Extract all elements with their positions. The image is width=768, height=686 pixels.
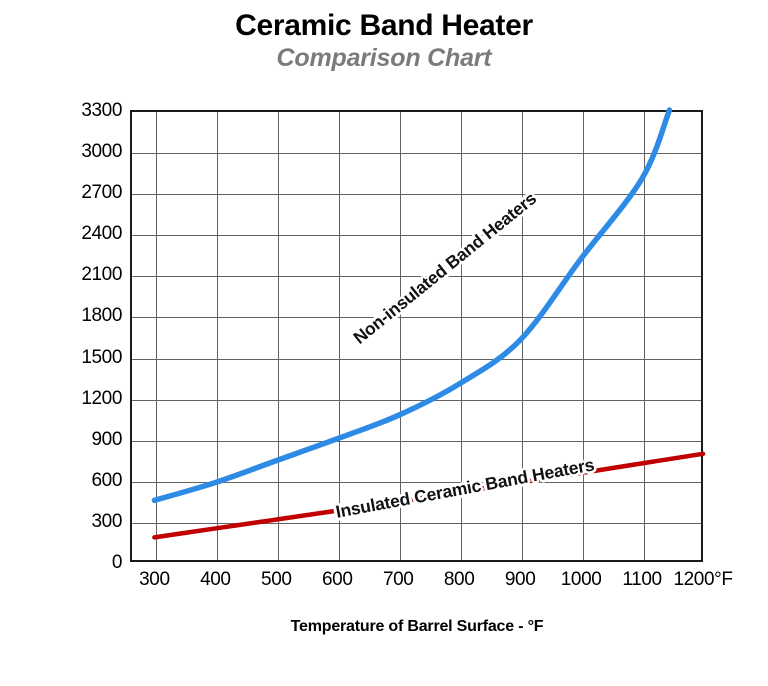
gridline-vertical xyxy=(156,112,157,560)
gridline-vertical xyxy=(217,112,218,560)
y-tick-label: 900 xyxy=(2,430,122,449)
x-tick-label: 1200°F xyxy=(648,570,758,590)
x-axis-label: Temperature of Barrel Surface - °F xyxy=(130,618,704,636)
gridline-vertical xyxy=(644,112,645,560)
gridline-vertical xyxy=(278,112,279,560)
gridline-vertical xyxy=(583,112,584,560)
y-tick-label: 600 xyxy=(2,471,122,490)
y-tick-label: 1200 xyxy=(2,389,122,408)
y-tick-label: 2400 xyxy=(2,224,122,243)
gridline-vertical xyxy=(522,112,523,560)
gridline-vertical xyxy=(339,112,340,560)
y-tick-label: 3300 xyxy=(2,101,122,120)
y-tick-label: 1800 xyxy=(2,306,122,325)
y-tick-label: 1500 xyxy=(2,348,122,367)
y-tick-label: 300 xyxy=(2,512,122,531)
y-tick-label: 2100 xyxy=(2,265,122,284)
y-tick-label: 2700 xyxy=(2,183,122,202)
y-tick-label: 3000 xyxy=(2,142,122,161)
chart-container: Ceramic Band Heater Comparison Chart Hea… xyxy=(0,0,768,686)
